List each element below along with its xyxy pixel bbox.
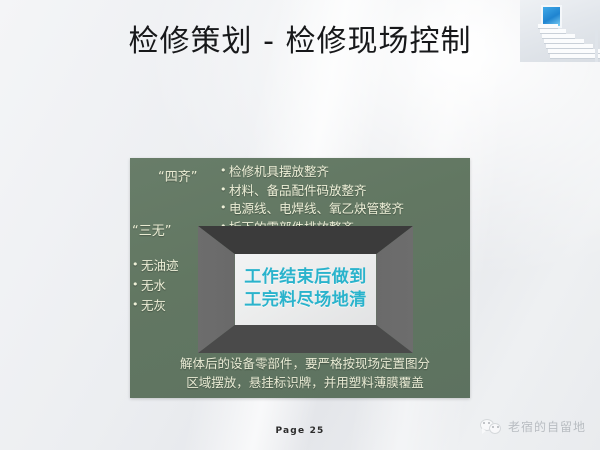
slogan-line: 工作结束后做到 bbox=[235, 266, 377, 289]
watermark: 老宿的自留地 bbox=[480, 418, 586, 436]
beveled-frame: 工作结束后做到 工完料尽场地清 bbox=[198, 226, 413, 353]
presentation-slide: 检修策划 - 检修现场控制 “四齐” 检修机具摆放整齐 材料、备品配件码放整齐 … bbox=[0, 0, 600, 450]
list-item: 无灰 bbox=[132, 296, 179, 316]
list-item: 电源线、电焊线、氧乙炔管整齐 bbox=[220, 200, 404, 219]
group-label-siqi: “四齐” bbox=[158, 170, 197, 186]
slogan-text: 工作结束后做到 工完料尽场地清 bbox=[235, 266, 377, 312]
frame-inner-panel: 工作结束后做到 工完料尽场地清 bbox=[235, 254, 377, 325]
group-label-sanwu: “三无” bbox=[132, 224, 171, 240]
panel-caption: 解体后的设备零部件，要严格按现场定置图分 区域摆放，悬挂标识牌，并用塑料薄膜覆盖 bbox=[150, 354, 460, 392]
slogan-line: 工完料尽场地清 bbox=[235, 289, 377, 312]
caption-line: 区域摆放，悬挂标识牌，并用塑料薄膜覆盖 bbox=[150, 373, 460, 392]
slide-title: 检修策划 - 检修现场控制 bbox=[0, 22, 600, 62]
list-item: 材料、备品配件码放整齐 bbox=[220, 182, 404, 201]
list-item: 无油迹 bbox=[132, 256, 179, 276]
stairs-graphic bbox=[536, 22, 600, 62]
list-item: 无水 bbox=[132, 276, 179, 296]
wechat-icon bbox=[480, 418, 502, 436]
bullet-list-sanwu: 无油迹 无水 无灰 bbox=[132, 256, 179, 316]
staircase-photo bbox=[520, 0, 600, 62]
content-panel: “四齐” 检修机具摆放整齐 材料、备品配件码放整齐 电源线、电焊线、氧乙炔管整齐… bbox=[130, 158, 470, 398]
caption-line: 解体后的设备零部件，要严格按现场定置图分 bbox=[150, 354, 460, 373]
watermark-text: 老宿的自留地 bbox=[508, 420, 586, 434]
list-item: 检修机具摆放整齐 bbox=[220, 163, 404, 182]
